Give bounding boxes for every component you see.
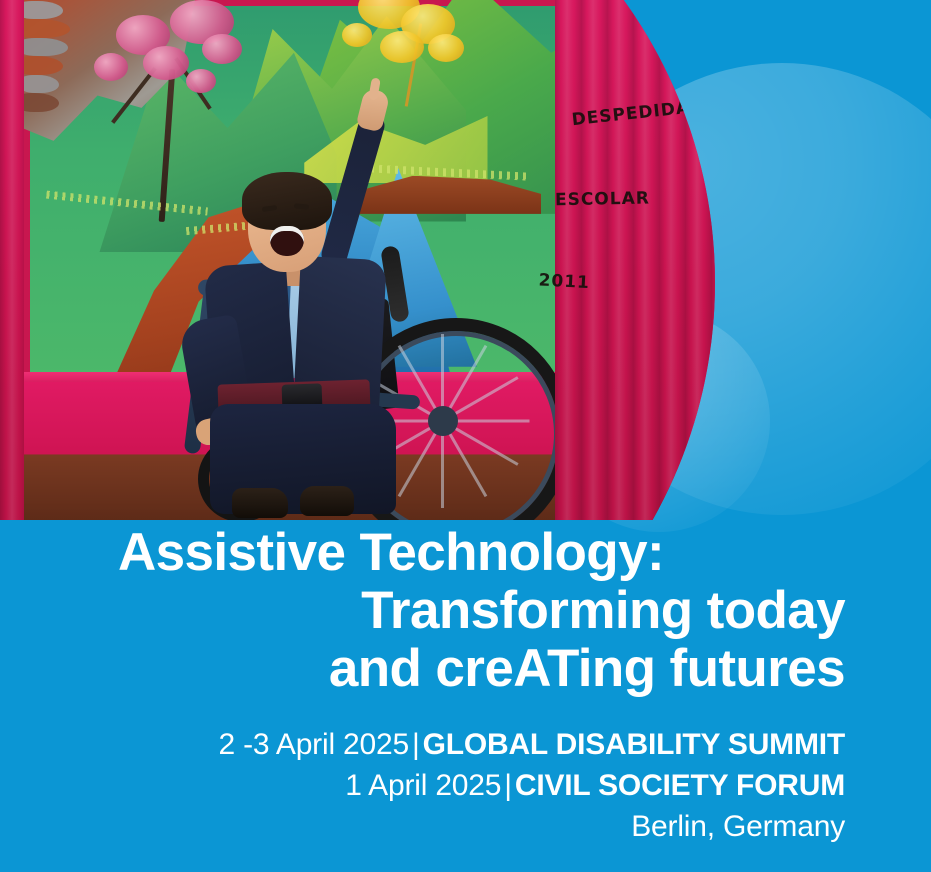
mural-rock-stripe (24, 93, 59, 112)
page-title: Assistive Technology: Transforming today… (60, 524, 845, 698)
forum-line: 1 April 2025|CIVIL SOCIETY FORUM (60, 765, 845, 806)
child-mouth (270, 226, 304, 256)
hero-photo: DESPEDIDA ESCOLAR 2011 (0, 0, 715, 520)
curtain-text-line-2: ESCOLAR (554, 155, 685, 243)
event-location: Berlin, Germany (60, 806, 845, 847)
mural-blossom-cluster (202, 34, 242, 64)
event-details: 2 -3 April 2025|GLOBAL DISABILITY SUMMIT… (60, 724, 845, 847)
child-shoe-left (232, 488, 288, 518)
mural-rock-stripe (24, 75, 59, 94)
mural-rock-stripe (24, 1, 63, 20)
mural-rock-stripe (24, 19, 70, 38)
title-line-2: Transforming today (60, 582, 845, 640)
text-block: Assistive Technology: Transforming today… (60, 524, 845, 847)
mural-yellow-foliage (380, 31, 424, 63)
forum-name: CIVIL SOCIETY FORUM (515, 769, 845, 802)
event-poster: DESPEDIDA ESCOLAR 2011 Assistive Technol… (0, 0, 931, 872)
title-line-3: and creATing futures (60, 640, 845, 698)
mural-blossom-cluster (143, 46, 189, 80)
curtain-text-line-3: 2011 (536, 237, 670, 330)
summit-separator: | (409, 728, 423, 761)
child-figure (170, 88, 500, 520)
curtain-handwritten-text: DESPEDIDA ESCOLAR 2011 (544, 63, 704, 335)
forum-separator: | (501, 769, 515, 802)
summit-line: 2 -3 April 2025|GLOBAL DISABILITY SUMMIT (60, 724, 845, 765)
stage-curtain-right: DESPEDIDA ESCOLAR 2011 (555, 0, 715, 520)
summit-dates: 2 -3 April 2025 (219, 728, 409, 761)
curtain-text-line-1: DESPEDIDA (567, 64, 705, 163)
title-line-1: Assistive Technology: (60, 524, 845, 582)
mural-rock-stripe (24, 38, 68, 57)
forum-dates: 1 April 2025 (345, 769, 501, 802)
child-hair (242, 172, 332, 230)
child-shoe-right (300, 486, 354, 516)
mural-rock-stripe (24, 56, 63, 75)
mural-yellow-foliage (342, 23, 372, 47)
summit-name: GLOBAL DISABILITY SUMMIT (423, 728, 845, 761)
